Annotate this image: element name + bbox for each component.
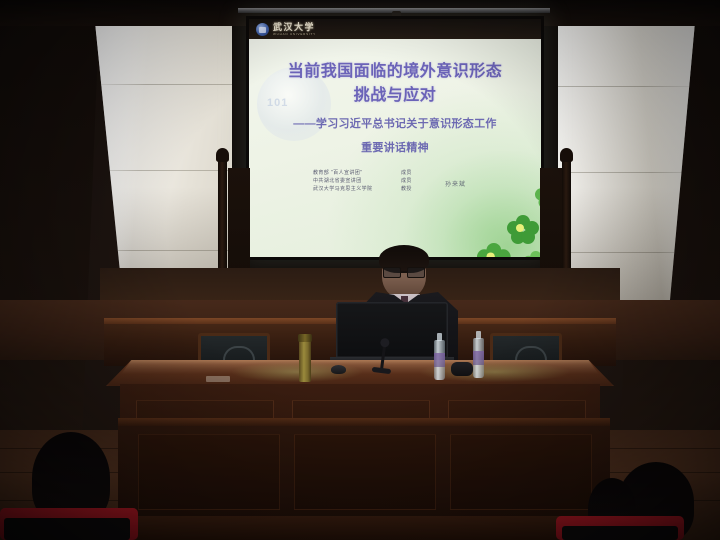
credit-organization: 武汉大学马克思主义学院 (313, 185, 391, 193)
bottle-label (434, 353, 445, 367)
university-crest-icon (256, 23, 269, 36)
thermos-cap (298, 334, 312, 342)
university-logo-text: 武汉大学 WUHAN UNIVERSITY (273, 23, 316, 36)
credit-organization: 中共湖北省委宣讲团 (313, 177, 391, 185)
slide-subtitle-line1: ——学习习近平总书记关于意识形态工作 (249, 115, 541, 131)
desk-sheen (106, 360, 614, 374)
credit-line: 教育部 "百人宣讲团" 成员 (313, 169, 412, 177)
post-finial (216, 148, 229, 162)
computer-mouse (331, 365, 346, 374)
water-bottle (473, 338, 484, 378)
credit-line: 中共湖北省委宣讲团 成员 (313, 177, 412, 185)
tea-thermos (299, 340, 311, 382)
university-name-en: WUHAN UNIVERSITY (273, 33, 316, 36)
podium-panel (294, 434, 436, 510)
slide-title-line1: 当前我国面临的境外意识形态 (249, 57, 541, 81)
bottle-label (473, 351, 484, 365)
water-bottle (434, 340, 445, 380)
presentation-slide: 武汉大学 WUHAN UNIVERSITY 101 当前我国面临的境外意识形态 … (249, 19, 541, 257)
podium-panel (450, 434, 592, 510)
university-name-cn: 武汉大学 (273, 23, 316, 32)
slide-credits: 教育部 "百人宣讲团" 成员 中共湖北省委宣讲团 成员 武汉大学马克思主义学院 … (313, 169, 412, 193)
post-finial (560, 148, 573, 162)
eyeglasses-icon (383, 267, 425, 276)
podium-front-lip (118, 418, 610, 426)
audience-seat-cushion (4, 518, 130, 540)
lecture-hall-photo: 武汉大学 WUHAN UNIVERSITY 101 当前我国面临的境外意识形态 … (0, 0, 720, 540)
podium-base (118, 516, 610, 540)
credit-line: 武汉大学马克思主义学院 教授 (313, 185, 412, 193)
paper-sheet (206, 376, 230, 382)
slide-title-line2: 挑战与应对 (249, 81, 541, 105)
audience-seat-cushion (562, 526, 678, 540)
projection-screen: 武汉大学 WUHAN UNIVERSITY 101 当前我国面临的境外意识形态 … (246, 16, 544, 260)
credit-organization: 教育部 "百人宣讲团" (313, 169, 391, 177)
slide-header-bar: 武汉大学 WUHAN UNIVERSITY (249, 19, 541, 39)
desk-accessory (451, 362, 473, 376)
podium-front-panel (118, 418, 610, 540)
podium-panel (138, 434, 280, 510)
laptop-screen (336, 302, 448, 358)
